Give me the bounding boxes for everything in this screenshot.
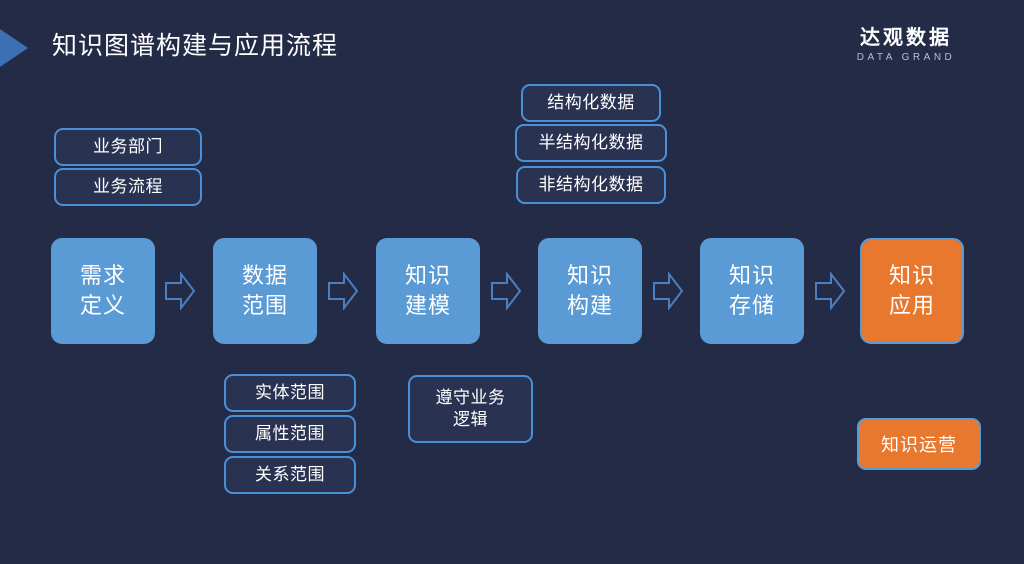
brand-logo: 达观数据 DATA GRAND (826, 26, 986, 66)
flow-step-3-line1: 知识 (405, 261, 451, 291)
brand-name-cn: 达观数据 (826, 26, 986, 50)
title-triangle-icon (0, 29, 28, 67)
flow-step-2[interactable]: 数据 范围 (213, 238, 317, 344)
scope-box-2: 属性范围 (224, 415, 356, 453)
data-type-box-3: 非结构化数据 (516, 166, 666, 204)
flow-step-1-line2: 定义 (80, 291, 126, 321)
page-title: 知识图谱构建与应用流程 (52, 28, 338, 64)
flow-step-4[interactable]: 知识 构建 (538, 238, 642, 344)
modeling-rule-box: 遵守业务 逻辑 (408, 375, 533, 443)
flow-step-2-line1: 数据 (242, 261, 288, 291)
modeling-rule-line2: 逻辑 (453, 409, 488, 431)
flow-step-5-line2: 存储 (729, 291, 775, 321)
flow-step-3-line2: 建模 (405, 291, 451, 321)
flow-arrow-5-icon (814, 272, 846, 310)
flow-step-1[interactable]: 需求 定义 (51, 238, 155, 344)
knowledge-operations-box[interactable]: 知识运营 (857, 418, 981, 470)
modeling-rule-line1: 遵守业务 (436, 387, 506, 409)
flow-step-4-line1: 知识 (567, 261, 613, 291)
slide-canvas: 知识图谱构建与应用流程 达观数据 DATA GRAND 业务部门 业务流程 结构… (0, 0, 1024, 564)
flow-step-1-line1: 需求 (80, 261, 126, 291)
scope-box-3: 关系范围 (224, 456, 356, 494)
flow-step-5-line1: 知识 (729, 261, 775, 291)
flow-step-2-line2: 范围 (242, 291, 288, 321)
requirement-input-box-1: 业务部门 (54, 128, 202, 166)
flow-arrow-3-icon (490, 272, 522, 310)
flow-arrow-4-icon (652, 272, 684, 310)
data-type-box-2: 半结构化数据 (515, 124, 667, 162)
brand-name-en: DATA GRAND (826, 50, 986, 66)
flow-step-3[interactable]: 知识 建模 (376, 238, 480, 344)
flow-step-6-line2: 应用 (889, 291, 935, 321)
scope-box-1: 实体范围 (224, 374, 356, 412)
flow-arrow-1-icon (164, 272, 196, 310)
flow-step-4-line2: 构建 (567, 291, 613, 321)
flow-step-5[interactable]: 知识 存储 (700, 238, 804, 344)
requirement-input-box-2: 业务流程 (54, 168, 202, 206)
flow-step-6[interactable]: 知识 应用 (860, 238, 964, 344)
data-type-box-1: 结构化数据 (521, 84, 661, 122)
flow-step-6-line1: 知识 (889, 261, 935, 291)
flow-arrow-2-icon (327, 272, 359, 310)
